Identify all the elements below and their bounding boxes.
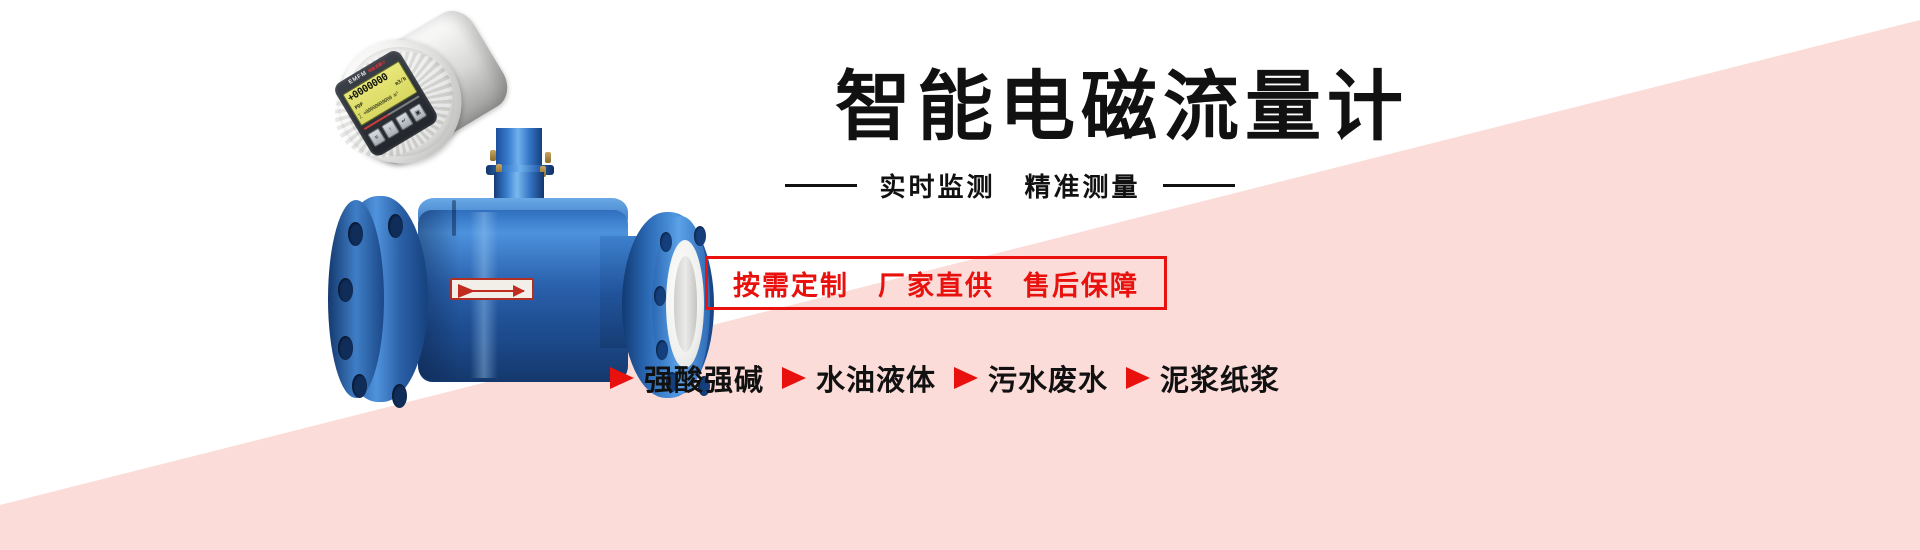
feature-label: 水油液体 — [816, 357, 936, 399]
banner-text-column: 智能电磁流量计 实时监测 精准测量 按需定制 厂家直供 售后保障 强酸强碱 水油… — [600, 0, 1660, 550]
triangle-right-icon — [1126, 367, 1150, 389]
subtitle-rule-left — [785, 184, 857, 187]
promo-badge: 按需定制 厂家直供 售后保障 — [705, 256, 1167, 310]
collar-bolt — [490, 150, 496, 161]
triangle-right-icon — [954, 367, 978, 389]
flange-bolt-hole — [352, 374, 367, 398]
feature-item: 泥浆纸浆 — [1126, 357, 1280, 399]
flange-bolt-hole — [348, 222, 363, 246]
flange-bolt-hole — [388, 214, 403, 238]
promo-text: 按需定制 厂家直供 售后保障 — [733, 264, 1139, 303]
arrow-tail — [458, 284, 475, 298]
subtitle-row: 实时监测 精准测量 — [700, 168, 1320, 202]
flange-bolt-hole — [338, 278, 353, 302]
feature-item: 水油液体 — [782, 357, 936, 399]
subtitle-text: 实时监测 精准测量 — [879, 167, 1140, 204]
feature-label: 泥浆纸浆 — [1160, 357, 1280, 399]
arrow-tip — [513, 285, 525, 297]
body-seam — [452, 200, 456, 236]
product-banner: EMFM电磁流量计 +0000000 POP m3/h ∑ +000000000… — [0, 0, 1920, 550]
flange-bolt-hole — [392, 384, 407, 408]
feature-item: 强酸强碱 — [610, 357, 764, 399]
feature-label: 强酸强碱 — [644, 357, 764, 399]
triangle-right-icon — [782, 367, 806, 389]
feature-item: 污水废水 — [954, 357, 1108, 399]
flange-bolt-hole — [338, 336, 353, 360]
flow-direction-arrow-icon — [450, 278, 534, 300]
lcd-tag-right: m3/h — [394, 76, 407, 87]
subtitle-rule-right — [1163, 184, 1235, 187]
collar-bolt — [545, 152, 551, 163]
feature-list: 强酸强碱 水油液体 污水废水 泥浆纸浆 — [610, 355, 1310, 401]
page-title: 智能电磁流量计 — [835, 45, 1409, 155]
triangle-right-icon — [610, 367, 634, 389]
neck-collar-top — [486, 148, 554, 164]
feature-label: 污水废水 — [988, 357, 1108, 399]
